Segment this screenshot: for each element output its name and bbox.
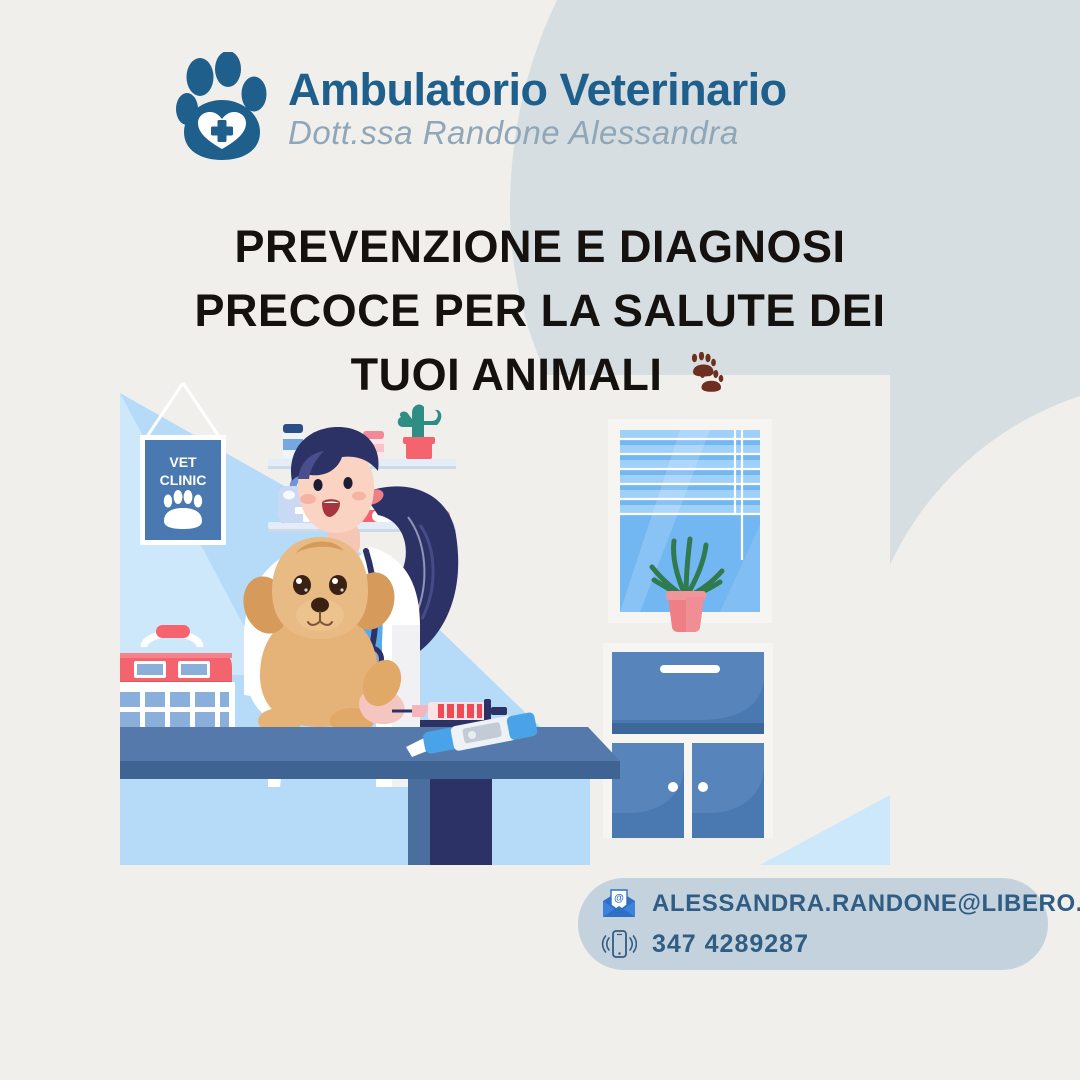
headline-line-1: PREVENZIONE E DIAGNOSI <box>0 215 1080 279</box>
svg-text:CLINIC: CLINIC <box>160 472 207 488</box>
window-with-blinds <box>608 419 772 632</box>
svg-text:@: @ <box>614 893 624 904</box>
poster-canvas: Ambulatorio Veterinario Dott.ssa Randone… <box>0 0 1080 1080</box>
paw-heart-cross-icon <box>176 52 276 164</box>
blue-cabinet <box>603 643 773 838</box>
contact-phone-text: 347 4289287 <box>652 930 809 959</box>
brand-logo: Ambulatorio Veterinario Dott.ssa Randone… <box>176 52 787 164</box>
contact-phone-row[interactable]: 347 4289287 <box>600 927 1048 961</box>
svg-text:VET: VET <box>169 454 197 470</box>
brand-subtitle: Dott.ssa Randone Alessandra <box>288 116 787 149</box>
mobile-phone-ringing-icon <box>600 927 638 961</box>
headline-line-3: TUOI ANIMALI <box>351 349 663 400</box>
page-title: PREVENZIONE E DIAGNOSI PRECOCE PER LA SA… <box>0 215 1080 407</box>
veterinarian-illustration: VET CLINIC <box>120 375 890 865</box>
brand-title: Ambulatorio Veterinario <box>288 67 787 112</box>
contact-email-text: ALESSANDRA.RANDONE@LIBERO.IT <box>652 890 1080 918</box>
headline-line-2: PRECOCE PER LA SALUTE DEI <box>0 279 1080 343</box>
email-envelope-icon: @ <box>600 887 638 921</box>
paw-prints-emoji <box>685 352 729 394</box>
contact-bar: @ ALESSANDRA.RANDONE@LIBERO.IT <box>578 878 1048 970</box>
headline-line-3-wrap: TUOI ANIMALI <box>0 343 1080 407</box>
contact-email-row[interactable]: @ ALESSANDRA.RANDONE@LIBERO.IT <box>600 887 1048 921</box>
